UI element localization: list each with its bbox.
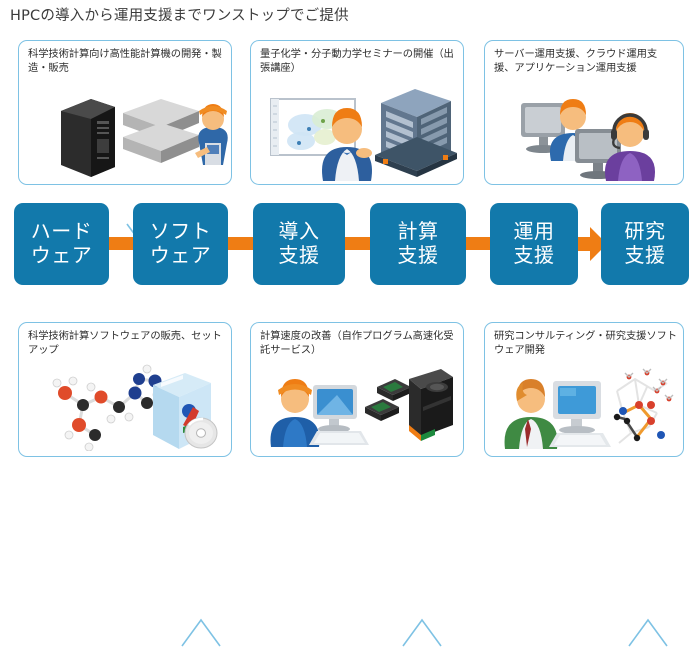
callout-hardware-text: 科学技術計算向け高性能計算機の開発・製造・販売 <box>28 48 225 75</box>
step-introduction-line1: 導入 <box>279 220 320 244</box>
molecule-model-icon <box>53 365 162 451</box>
office-building-icon <box>375 89 457 177</box>
callout-software-text: 科学技術計算ソフトウェアの販売、セットアップ <box>28 330 225 357</box>
callout-operation-text: サーバー運用支援、クラウド運用支援、アプリケーション運用支援 <box>494 48 677 75</box>
callout-introduction: 量子化学・分子動力学セミナーの開催（出張講座） <box>250 40 464 185</box>
gpu-card-icon <box>409 369 453 441</box>
callout-research-text: 研究コンサルティング・研究支援ソフトウェア開発 <box>494 330 677 357</box>
callout-software: 科学技術計算ソフトウェアの販売、セットアップ <box>18 322 232 457</box>
callout-software-illustration <box>43 363 219 451</box>
callout-hardware: 科学技術計算向け高性能計算機の開発・製造・販売 <box>18 40 232 185</box>
step-software-line2: ウェア <box>150 244 212 268</box>
cpu-chip-icon <box>365 379 411 421</box>
callout-research-tail-mask <box>629 643 667 646</box>
step-research-support[interactable]: 研究 支援 <box>601 203 689 285</box>
callout-computation-text: 計算速度の改善（自作プログラム高速化受託サービス） <box>260 330 457 357</box>
desktop-computer-icon <box>309 385 369 445</box>
step-research-line1: 研究 <box>625 220 666 244</box>
step-research-line2: 支援 <box>625 244 666 268</box>
desktop-computer-icon <box>549 381 611 447</box>
callout-computation-illustration <box>265 365 455 451</box>
step-operation-line2: 支援 <box>514 244 555 268</box>
callout-research: 研究コンサルティング・研究支援ソフトウェア開発 <box>484 322 684 457</box>
callout-introduction-illustration <box>265 85 457 181</box>
page-title: HPCの導入から運用支援までワンストップでご提供 <box>10 4 349 25</box>
cd-disc-icon <box>185 418 217 448</box>
callout-operation-illustration <box>513 89 669 181</box>
callout-software-tail-mask <box>182 643 220 646</box>
step-computation-line2: 支援 <box>398 244 439 268</box>
engineer-person-icon <box>195 104 228 165</box>
callout-introduction-text: 量子化学・分子動力学セミナーの開催（出張講座） <box>260 48 457 75</box>
step-operation-support[interactable]: 運用 支援 <box>490 203 578 285</box>
network-graph-icon <box>614 369 673 443</box>
callout-research-illustration <box>499 365 677 451</box>
step-introduction-support[interactable]: 導入 支援 <box>253 203 345 285</box>
step-introduction-line2: 支援 <box>279 244 320 268</box>
step-computation-line1: 計算 <box>398 220 439 244</box>
callout-computation-tail-mask <box>403 643 441 646</box>
step-operation-line1: 運用 <box>514 220 555 244</box>
researcher-person-icon <box>505 379 558 449</box>
step-hardware-line1: ハード <box>31 220 93 244</box>
step-computation-support[interactable]: 計算 支援 <box>370 203 466 285</box>
rack-server-icon <box>123 99 199 163</box>
step-software[interactable]: ソフト ウェア <box>133 203 228 285</box>
callout-computation: 計算速度の改善（自作プログラム高速化受託サービス） <box>250 322 464 457</box>
callout-hardware-illustration <box>49 91 229 181</box>
step-software-line1: ソフト <box>150 220 212 244</box>
callout-operation: サーバー運用支援、クラウド運用支援、アプリケーション運用支援 <box>484 40 684 185</box>
engineer-person-icon <box>271 379 320 447</box>
step-hardware[interactable]: ハード ウェア <box>14 203 109 285</box>
step-hardware-line2: ウェア <box>31 244 93 268</box>
tower-server-icon <box>61 99 115 177</box>
